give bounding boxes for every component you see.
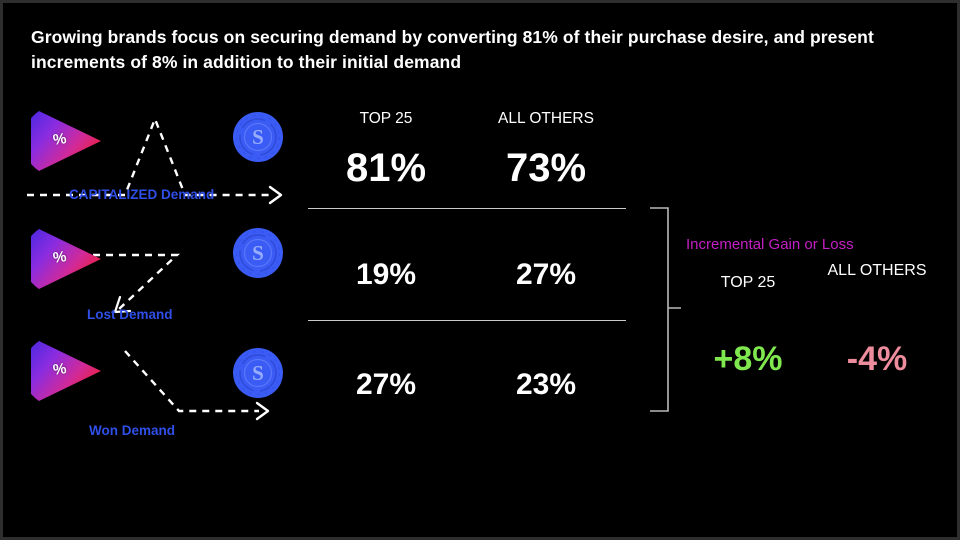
coin-dollar-symbol: S	[232, 227, 284, 279]
divider-top	[308, 208, 626, 209]
percent-wedge-icon: %	[31, 109, 109, 173]
dollar-coin-icon: S	[232, 227, 284, 279]
value-lost-top25: 19%	[321, 258, 451, 292]
value-lost-all-others: 27%	[481, 258, 611, 292]
coin-dollar-symbol: S	[232, 347, 284, 399]
value-won-all-others: 23%	[481, 368, 611, 402]
incremental-value-all-others: -4%	[825, 340, 929, 379]
wedge-percent-symbol: %	[52, 248, 68, 267]
flow-row-lost: % S Lost Demand	[27, 221, 297, 333]
column-header-all-others: ALL OTHERS	[481, 110, 611, 128]
page-title: Growing brands focus on securing demand …	[31, 25, 939, 75]
grouping-bracket-icon	[623, 203, 693, 428]
divider-bottom	[308, 320, 626, 321]
value-capitalized-all-others: 73%	[481, 146, 611, 191]
wedge-percent-symbol: %	[52, 360, 68, 379]
flow-label-lost: Lost Demand	[87, 307, 173, 322]
incremental-header-top25: TOP 25	[693, 273, 803, 292]
incremental-value-top25: +8%	[693, 340, 803, 379]
dollar-coin-icon: S	[232, 111, 284, 163]
dollar-coin-icon: S	[232, 347, 284, 399]
percent-wedge-icon: %	[31, 227, 109, 291]
percent-wedge-icon: %	[31, 339, 109, 403]
flow-label-won: Won Demand	[89, 423, 175, 438]
value-capitalized-top25: 81%	[321, 146, 451, 191]
flow-row-won: % S Won Demand	[27, 333, 297, 445]
column-header-top25: TOP 25	[321, 110, 451, 128]
slide-canvas: Growing brands focus on securing demand …	[0, 0, 960, 540]
flow-label-capitalized: CAPITALIZED Demand	[69, 187, 214, 202]
incremental-header-all-others: ALL OTHERS	[825, 261, 929, 280]
wedge-percent-symbol: %	[52, 130, 68, 149]
coin-dollar-symbol: S	[232, 111, 284, 163]
value-won-top25: 27%	[321, 368, 451, 402]
flow-row-capitalized: % S CAPITALIZED Demand	[27, 103, 297, 215]
incremental-panel-title: Incremental Gain or Loss	[686, 236, 854, 253]
